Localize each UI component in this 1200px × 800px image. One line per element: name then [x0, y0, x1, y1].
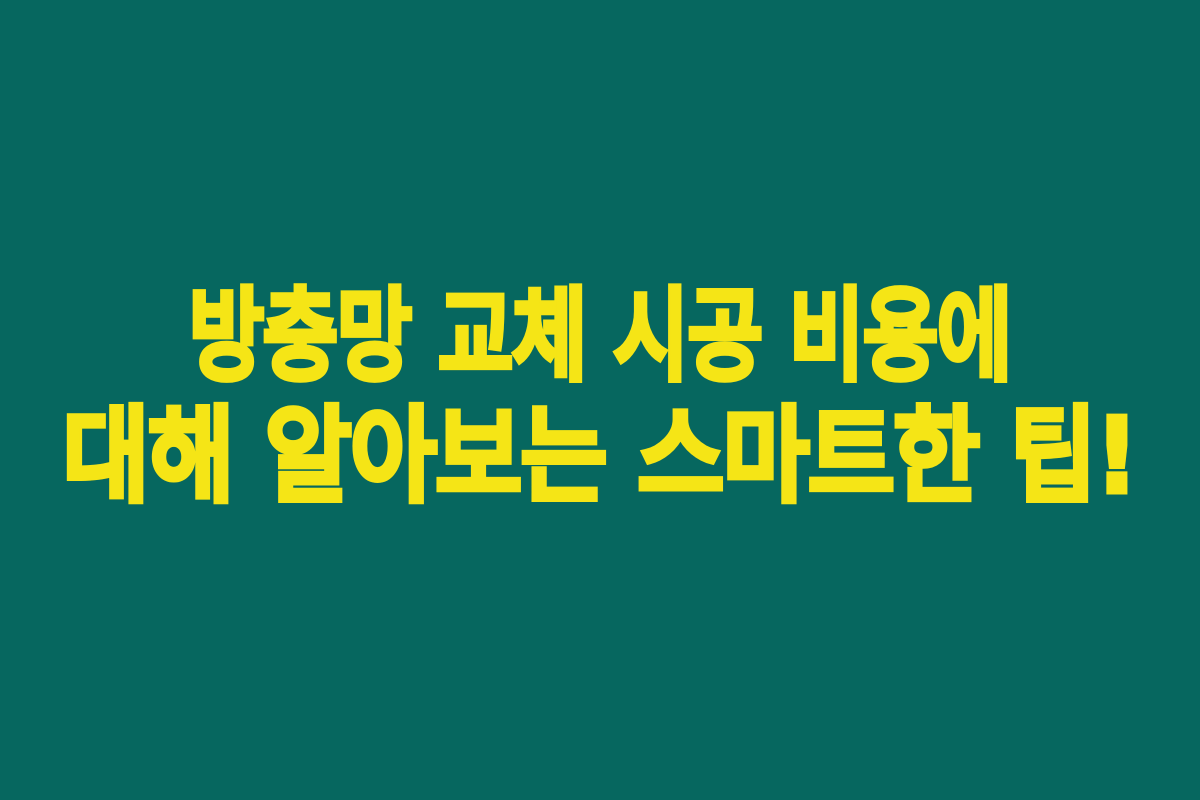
promo-banner: 방충망 교체 시공 비용에 대해 알아보는 스마트한 팁!: [0, 0, 1200, 800]
headline-line-1: 방충망 교체 시공 비용에: [116, 287, 1084, 386]
headline-line-2: 대해 알아보는 스마트한 팁!: [58, 406, 1141, 508]
headline-block: 방충망 교체 시공 비용에 대해 알아보는 스마트한 팁!: [0, 287, 1200, 508]
